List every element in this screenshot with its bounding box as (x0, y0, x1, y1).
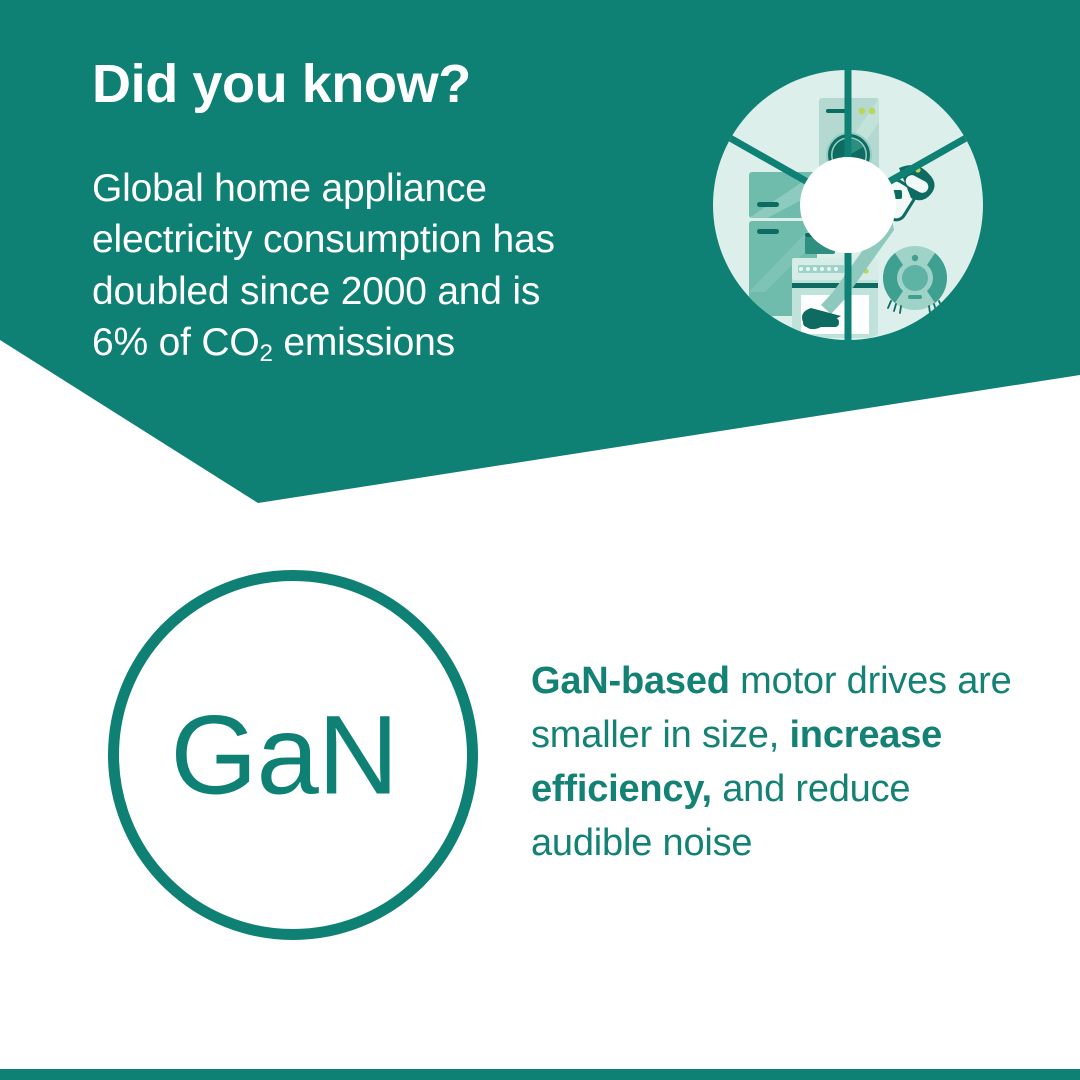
footer-accent-bar (0, 1069, 1080, 1080)
benefit-highlight-gan-based: GaN-based (531, 660, 730, 702)
home-appliance-wheel-illustration (705, 62, 991, 348)
gan-badge-label: GaN (108, 691, 478, 820)
wheel-center-hub (800, 157, 896, 253)
benefit-statement: GaN-based motor drives are smaller in si… (531, 655, 1031, 871)
gan-badge: GaN (108, 570, 478, 940)
